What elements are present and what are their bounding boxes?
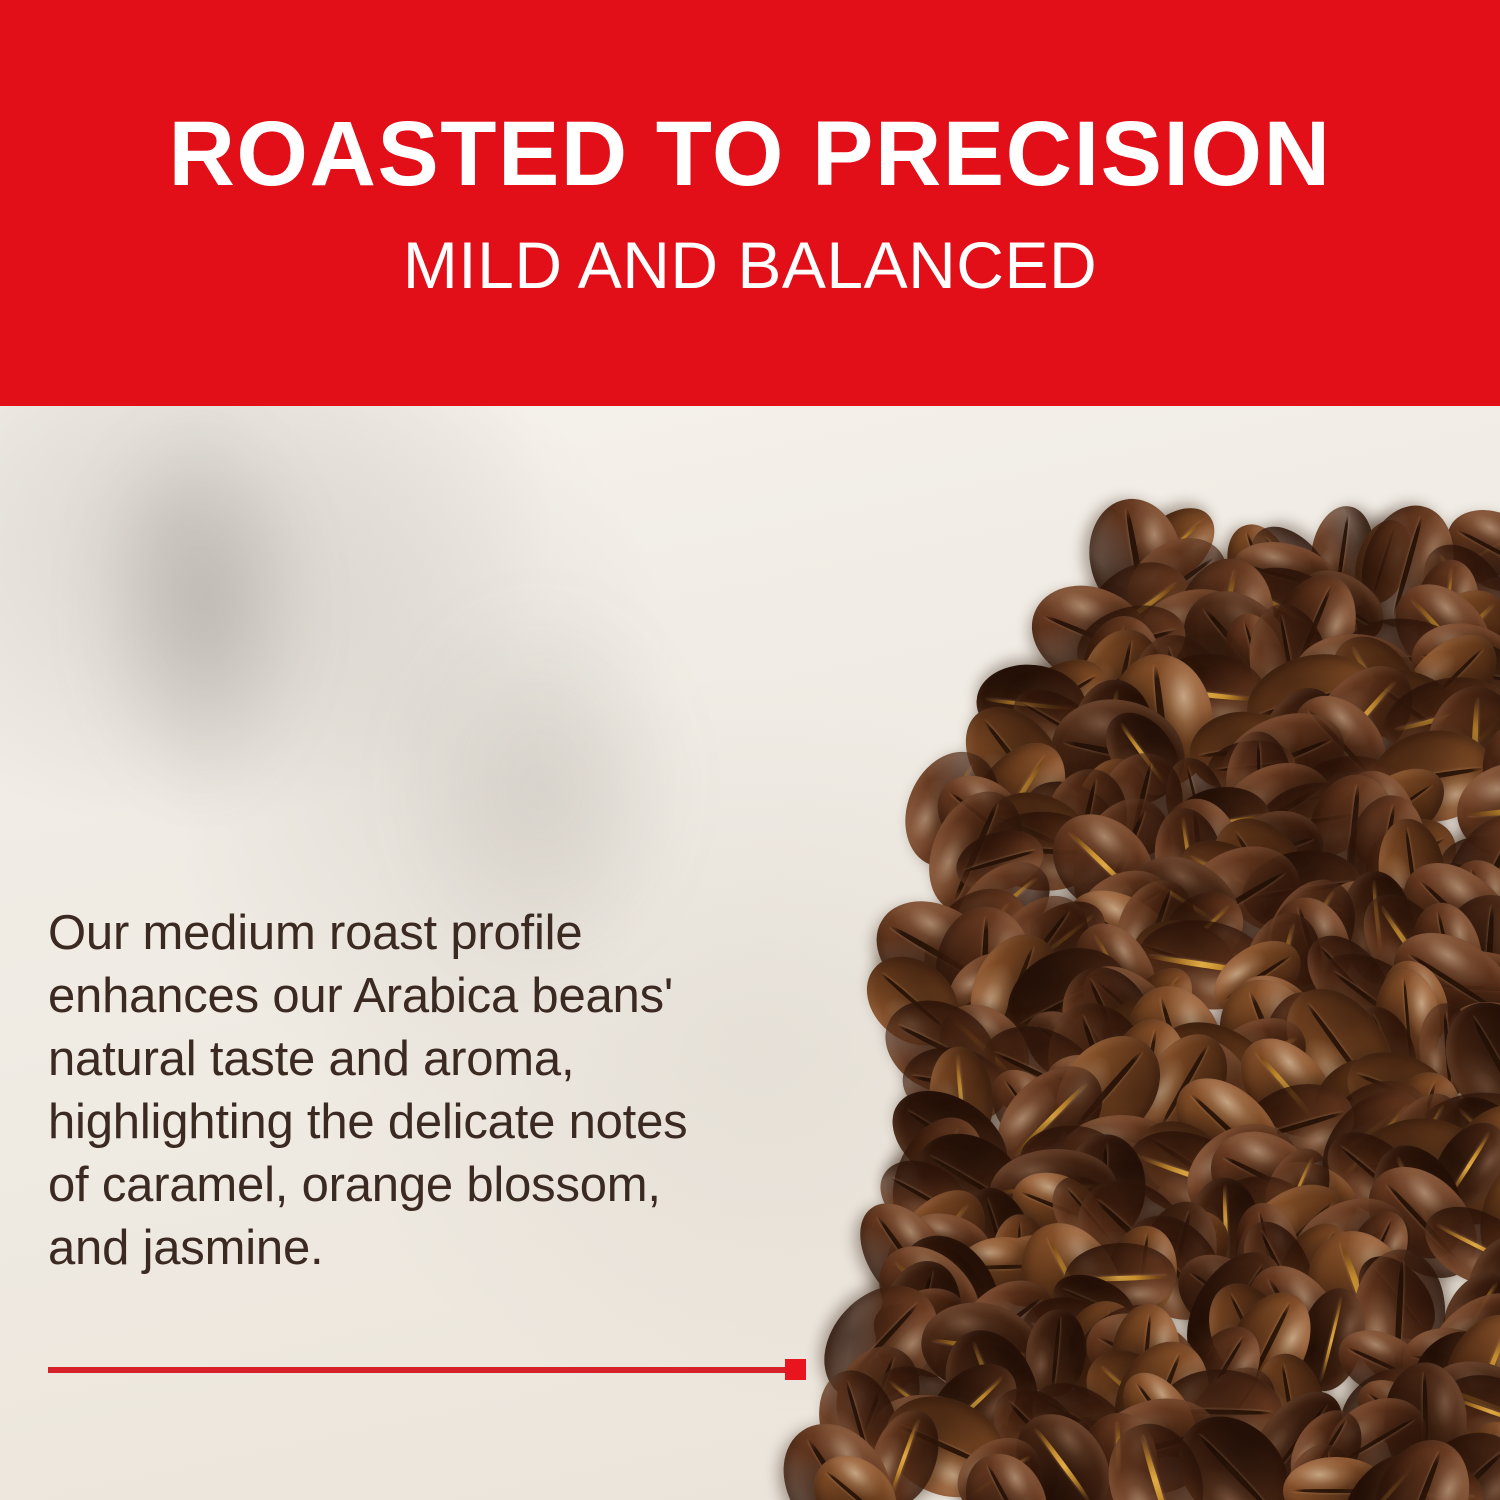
divider — [48, 1359, 806, 1381]
divider-line — [48, 1367, 788, 1373]
product-feature-banner: ROASTED TO PRECISION MILD AND BALANCED O… — [0, 0, 1500, 1500]
page-title: ROASTED TO PRECISION — [0, 108, 1500, 200]
coffee-beans-image — [820, 466, 1500, 1500]
page-subtitle: MILD AND BALANCED — [0, 232, 1500, 298]
backdrop-shadow — [30, 406, 370, 866]
header-banner: ROASTED TO PRECISION MILD AND BALANCED — [0, 0, 1500, 406]
description-paragraph: Our medium roast profile enhances our Ar… — [48, 902, 688, 1280]
divider-accent-square — [785, 1359, 806, 1380]
